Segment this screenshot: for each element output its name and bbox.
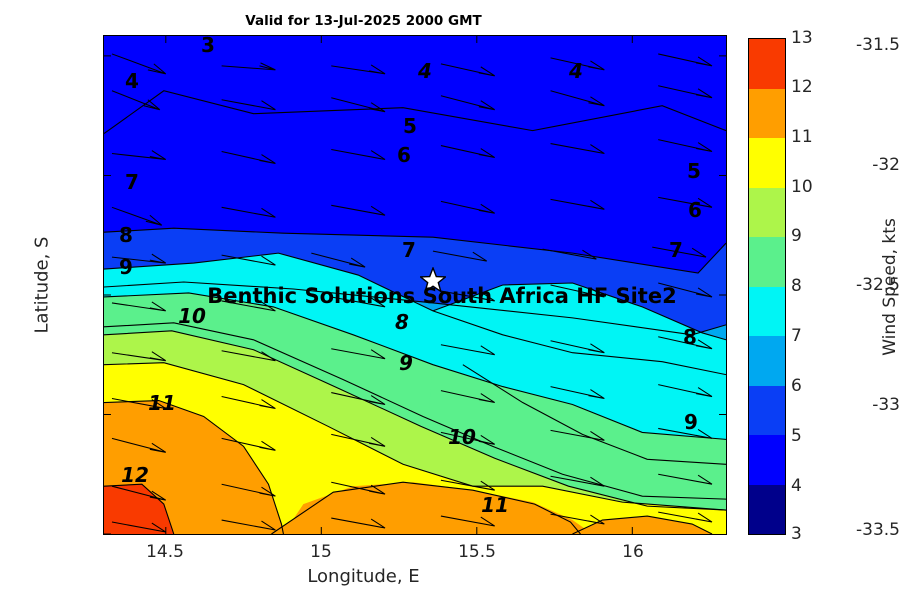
contour-label: 5 [403, 114, 417, 138]
page-title: Valid for 13-Jul-2025 2000 GMT [0, 13, 727, 29]
colorbar[interactable] [748, 38, 786, 535]
colorbar-tick-label: 6 [791, 376, 802, 396]
contour-label: 3 [201, 35, 215, 57]
contour-label: 4 [418, 59, 432, 83]
colorbar-tick-label: 8 [791, 276, 802, 296]
colorbar-tick-label: 5 [791, 426, 802, 446]
contour-label: 9 [119, 255, 133, 279]
contour-label: 10 [448, 425, 476, 449]
wind-forecast-figure: Valid for 13-Jul-2025 2000 GMT [0, 0, 900, 600]
colorbar-band [749, 435, 785, 485]
x-tick-label: 16 [573, 542, 693, 562]
colorbar-tick-label: 13 [791, 28, 813, 48]
y-tick-label: -31.5 [808, 35, 900, 55]
contour-plot-area: 3 4 4 4 5 5 6 6 7 7 7 8 8 8 9 9 9 10 10 … [103, 35, 727, 535]
contour-label: 7 [669, 238, 683, 262]
colorbar-band [749, 138, 785, 188]
colorbar-band [749, 89, 785, 139]
colorbar-tick-label: 12 [791, 77, 813, 97]
colorbar-tick-label: 7 [791, 326, 802, 346]
contour-label: 8 [119, 223, 133, 247]
site-label: Benthic Solutions South Africa HF Site2 [207, 284, 676, 308]
colorbar-band [749, 336, 785, 386]
colorbar-label: Wind Speed, kts [880, 167, 900, 407]
x-tick-label: 15 [261, 542, 381, 562]
x-tick-label: 15.5 [417, 542, 537, 562]
colorbar-tick-label: 9 [791, 226, 802, 246]
colorbar-tick-label: 11 [791, 127, 813, 147]
colorbar-band [749, 386, 785, 436]
contour-label: 7 [125, 170, 139, 194]
colorbar-tick-label: 10 [791, 177, 813, 197]
colorbar-band [749, 485, 785, 535]
contour-label: 9 [399, 351, 413, 375]
contour-label: 4 [569, 59, 583, 83]
contour-label: 7 [402, 238, 416, 262]
x-axis-label: Longitude, E [0, 566, 727, 587]
contour-label: 8 [683, 325, 697, 349]
colorbar-band [749, 188, 785, 238]
colorbar-band [749, 287, 785, 337]
colorbar-band [749, 237, 785, 287]
contour-label: 11 [148, 391, 176, 415]
contour-label: 9 [684, 410, 698, 434]
colorbar-tick-label: 4 [791, 476, 802, 496]
contour-label: 4 [125, 69, 139, 93]
contour-label: 8 [395, 310, 409, 334]
contour-label: 11 [481, 493, 509, 517]
colorbar-tick-label: 3 [791, 524, 802, 544]
colorbar-band [749, 39, 785, 89]
contour-label: 10 [178, 304, 206, 328]
contour-label: 6 [397, 143, 411, 167]
contour-label: 6 [688, 198, 702, 222]
contour-label: 5 [687, 159, 701, 183]
y-axis-label: Latitude, S [32, 175, 53, 395]
x-tick-label: 14.5 [105, 542, 225, 562]
contour-label: 12 [121, 463, 149, 487]
y-tick-label: -33.5 [808, 520, 900, 540]
